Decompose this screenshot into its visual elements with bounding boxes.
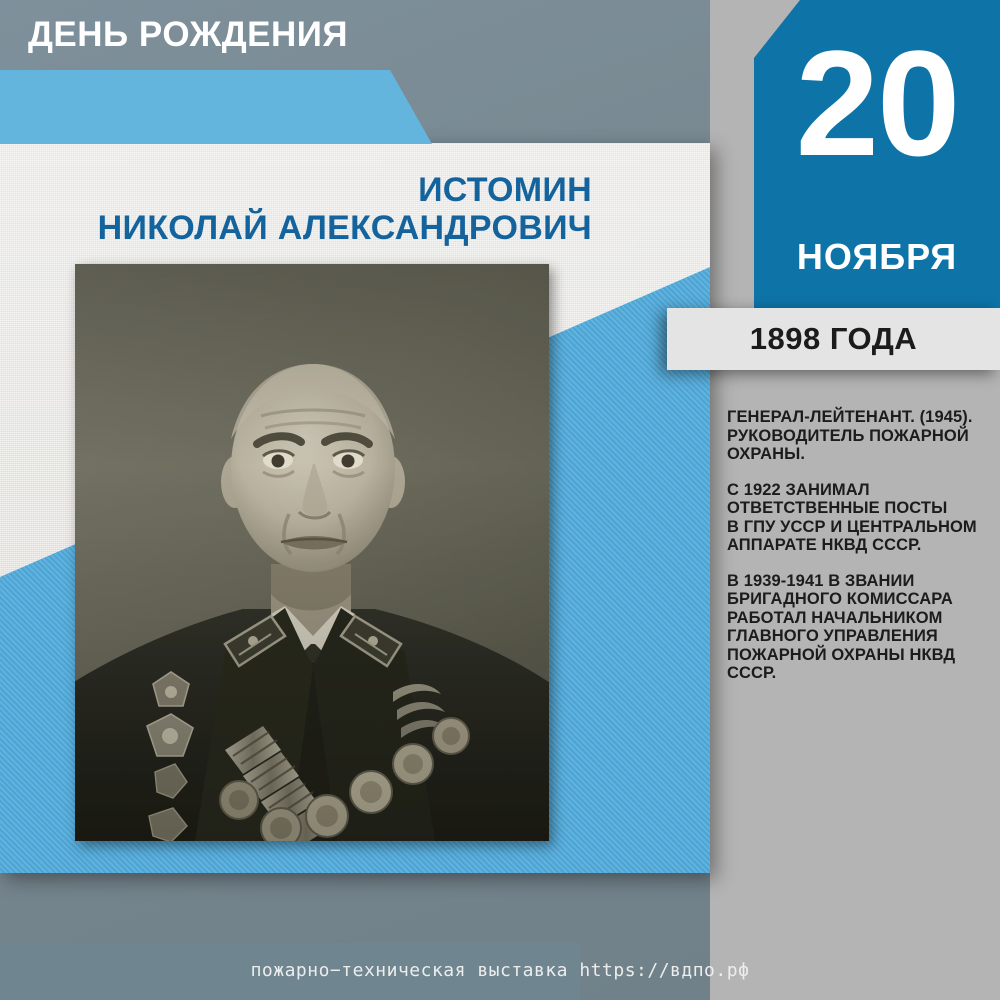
bio-paragraph: С 1922 ЗАНИМАЛ ОТВЕТСТВЕННЫЕ ПОСТЫ В ГПУ… bbox=[727, 481, 995, 555]
year-chip-label: 1898 ГОДА bbox=[750, 321, 917, 357]
year-chip: 1898 ГОДА bbox=[667, 308, 1000, 370]
date-day: 20 bbox=[754, 28, 1000, 178]
person-given-name: НИКОЛАЙ АЛЕКСАНДРОВИЧ bbox=[0, 209, 592, 248]
bio-paragraph: В 1939-1941 В ЗВАНИИ БРИГАДНОГО КОМИССАР… bbox=[727, 572, 995, 683]
person-name: ИСТОМИН НИКОЛАЙ АЛЕКСАНДРОВИЧ bbox=[0, 172, 592, 248]
footer-caption: пожарно−техническая выставка https://вдп… bbox=[0, 960, 1000, 981]
portrait-photo bbox=[75, 264, 549, 841]
person-surname: ИСТОМИН bbox=[0, 172, 592, 209]
bio-paragraph: ГЕНЕРАЛ-ЛЕЙТЕНАНТ. (1945). РУКОВОДИТЕЛЬ … bbox=[727, 408, 995, 464]
biography-text: ГЕНЕРАЛ-ЛЕЙТЕНАНТ. (1945). РУКОВОДИТЕЛЬ … bbox=[727, 408, 995, 683]
birthday-banner-label: ДЕНЬ РОЖДЕНИЯ bbox=[28, 13, 348, 57]
date-panel: 20 НОЯБРЯ bbox=[754, 0, 1000, 318]
birthday-banner bbox=[0, 70, 432, 144]
date-month: НОЯБРЯ bbox=[754, 238, 1000, 276]
birthday-poster: ДЕНЬ РОЖДЕНИЯ ИСТОМИН НИКОЛАЙ АЛЕКСАНДРО… bbox=[0, 0, 1000, 1000]
